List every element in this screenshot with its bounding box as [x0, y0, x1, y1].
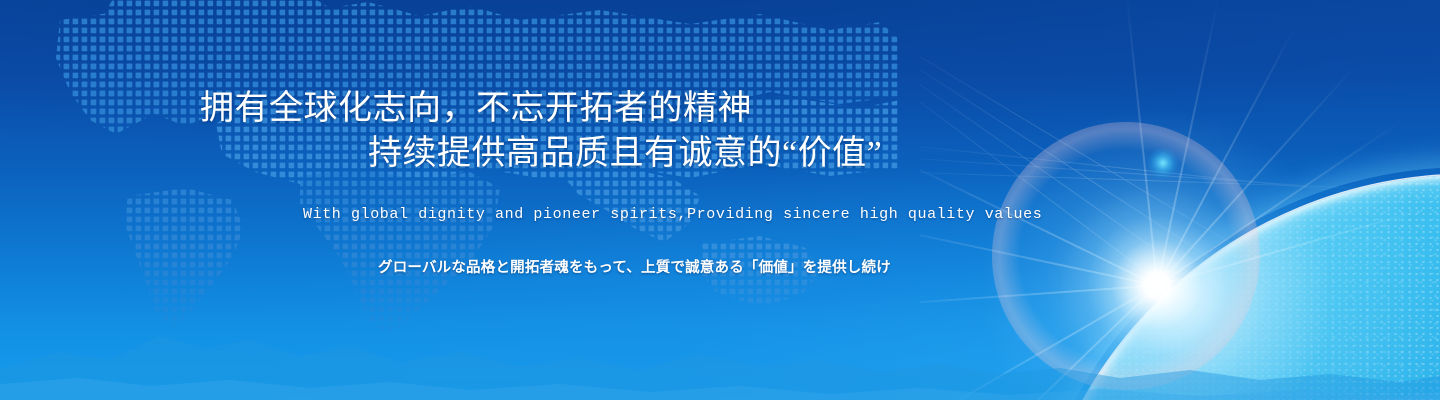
hero-banner: 拥有全球化志向，不忘开拓者的精神 持续提供高品质且有诚意的“价值” With g…	[0, 0, 1440, 400]
subtitle-japanese: グローバルな品格と開拓者魂をもって、上質で誠意ある「価値」を提供し続け	[378, 261, 891, 276]
headline-line-1: 拥有全球化志向，不忘开拓者的精神	[200, 92, 752, 126]
banner-text-block: 拥有全球化志向，不忘开拓者的精神 持续提供高品质且有诚意的“价值” With g…	[0, 0, 1440, 400]
subtitle-english: With global dignity and pioneer spirits,…	[303, 207, 1042, 222]
headline-line-2: 持续提供高品质且有诚意的“价值”	[368, 137, 882, 171]
